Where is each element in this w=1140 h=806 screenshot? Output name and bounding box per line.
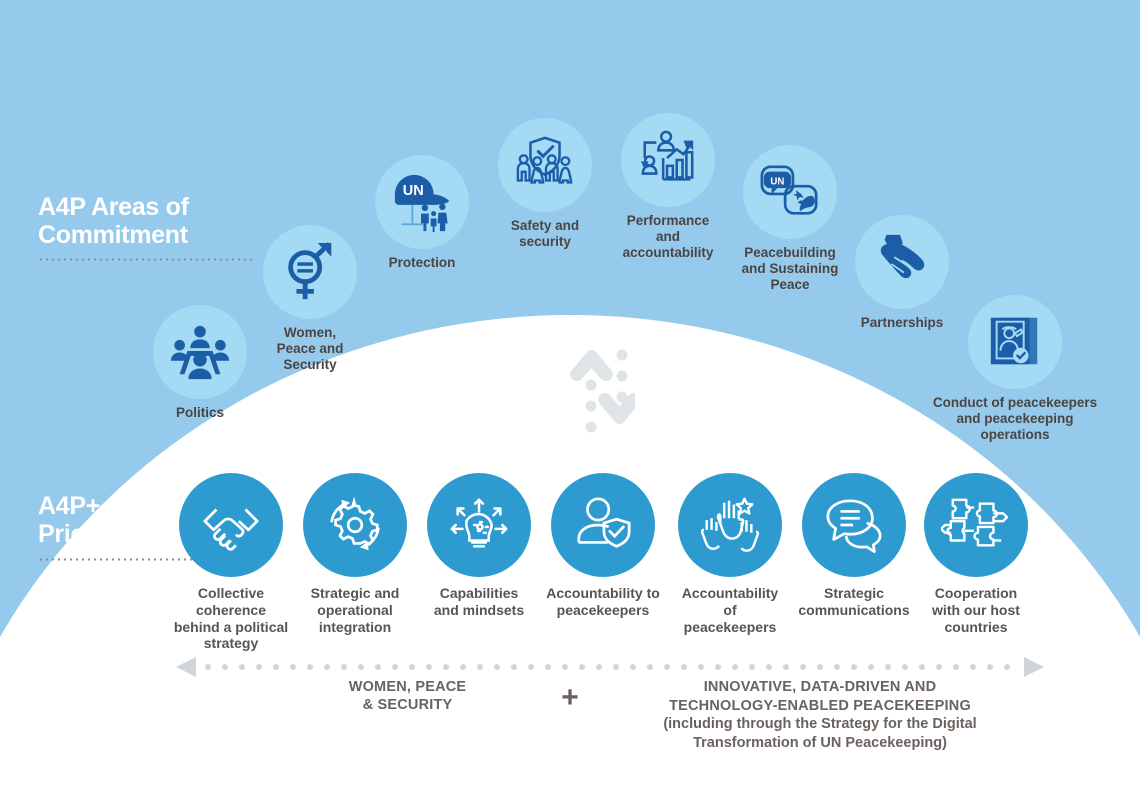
arrow-right-icon	[1024, 657, 1044, 677]
commitment-label: Conduct of peacekeepersand peacekeepingo…	[910, 395, 1120, 442]
commitment-bubble: UN	[375, 155, 469, 249]
round-table-meeting-icon	[169, 321, 231, 383]
person-shield-check-icon	[570, 494, 636, 556]
commitment-divider	[38, 258, 253, 261]
priority-bubble	[802, 473, 906, 577]
dot	[617, 371, 628, 382]
commitment-label: Protection	[337, 255, 507, 271]
svg-text:UN: UN	[770, 176, 784, 187]
priority-bubble	[427, 473, 531, 577]
section-title-commitment: A4P Areas ofCommitment	[38, 193, 278, 249]
un-helmet-civilians-icon: UN	[389, 171, 455, 233]
dot	[586, 401, 597, 412]
commitment-bubble	[968, 295, 1062, 389]
priority-bubble	[303, 473, 407, 577]
arrow-left-icon	[176, 657, 196, 677]
puzzle-hands-icon	[941, 494, 1011, 556]
priority-bubble	[551, 473, 655, 577]
bidirectional-dotted-arrow	[170, 655, 1050, 679]
dot	[586, 380, 597, 391]
dot	[586, 422, 597, 433]
clasped-hands-icon	[870, 232, 934, 292]
footer-innovative-peacekeeping: INNOVATIVE, DATA-DRIVEN ANDTECHNOLOGY-EN…	[610, 678, 1030, 752]
speech-bubbles-icon	[820, 495, 888, 555]
un-dove-chat-icon: UN	[758, 161, 822, 223]
priority-item-cooperation-host-countries[interactable]: Cooperationwith our hostcountries	[901, 473, 1051, 635]
gender-equality-icon	[279, 241, 341, 303]
priority-bubble	[924, 473, 1028, 577]
commitment-label: Women,Peace andSecurity	[225, 325, 395, 372]
person-bar-chart-icon	[637, 129, 699, 191]
shield-people-icon	[512, 134, 578, 196]
footer-women-peace-security: WOMEN, PEACE& SECURITY	[275, 678, 540, 714]
gear-brain-arrows-icon	[445, 492, 513, 558]
priority-bubble	[179, 473, 283, 577]
priority-label: Cooperationwith our hostcountries	[901, 585, 1051, 635]
gear-cycle-icon	[322, 492, 388, 558]
handshake-icon	[197, 494, 265, 556]
svg-text:UN: UN	[403, 183, 424, 199]
commitment-label: Politics	[115, 405, 285, 421]
commitment-item-conduct-of-peacekeepers[interactable]: Conduct of peacekeepersand peacekeepingo…	[910, 295, 1120, 442]
center-flow-decoration	[565, 328, 635, 446]
peacekeeper-book-check-icon	[985, 312, 1045, 372]
commitment-bubble	[498, 118, 592, 212]
bottom-white-band	[0, 745, 1140, 806]
dot	[617, 350, 628, 361]
footer-plus-sign: +	[530, 683, 610, 713]
raised-hands-star-icon	[697, 493, 763, 557]
priority-bubble	[678, 473, 782, 577]
commitment-bubble	[621, 113, 715, 207]
chevron-up-icon	[570, 350, 613, 381]
infographic-canvas: A4P Areas ofCommitment A4P+Priorities	[0, 0, 1140, 806]
footer-innovative-subtitle: (including through the Strategy for the …	[610, 715, 1030, 752]
footer-innovative-title: INNOVATIVE, DATA-DRIVEN ANDTECHNOLOGY-EN…	[610, 678, 1030, 715]
